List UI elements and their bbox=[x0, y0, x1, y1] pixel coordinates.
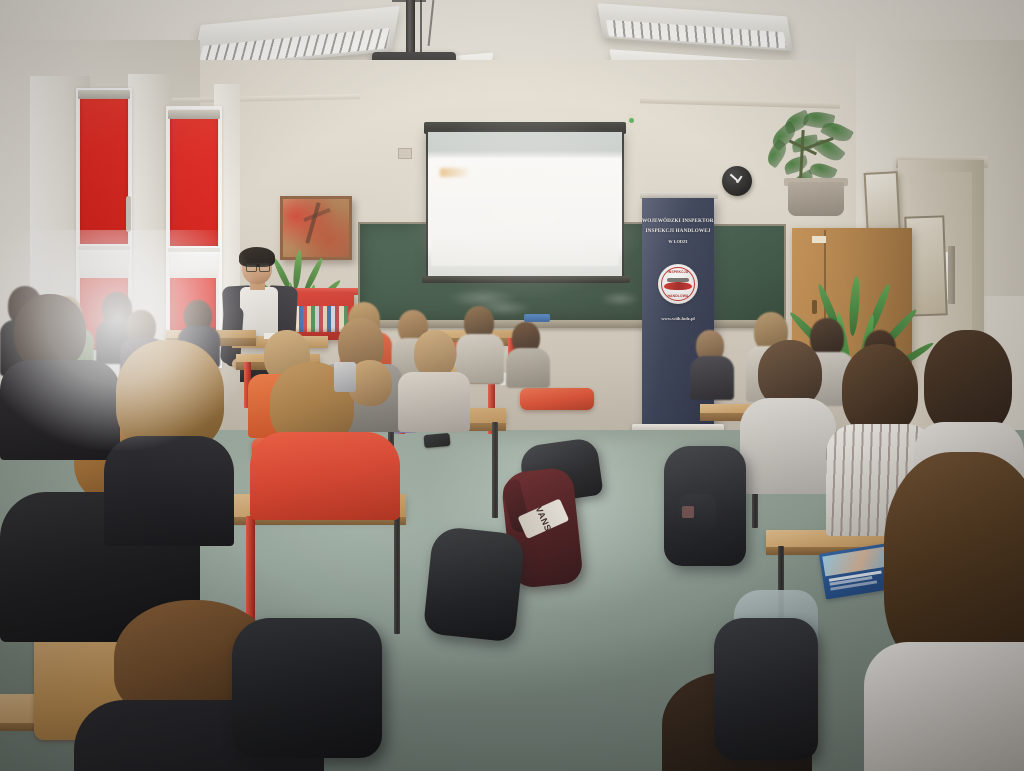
inspection-authority-logo-icon: INSPEKCJA HANDLOWA bbox=[658, 264, 698, 304]
banner-website-url: www.wiih.lodz.pl bbox=[642, 316, 714, 321]
artwork-stroke bbox=[305, 203, 320, 244]
window-handle[interactable] bbox=[126, 196, 131, 232]
student-grey-hoodie bbox=[740, 340, 836, 480]
backpack bbox=[714, 618, 818, 760]
glasses-icon bbox=[246, 263, 270, 269]
logo-ring bbox=[661, 267, 695, 301]
logo-text-bottom: HANDLOWA bbox=[658, 294, 698, 298]
blind-headrail bbox=[168, 110, 220, 119]
logo-bar bbox=[667, 278, 689, 282]
smartphone-on-desk[interactable] bbox=[423, 433, 450, 448]
student-blonde bbox=[104, 340, 234, 520]
banner-line-2: INSPEKCJI HANDLOWEJ bbox=[642, 228, 714, 234]
projector-mount-pole bbox=[406, 0, 415, 58]
backpack bbox=[664, 446, 746, 566]
student bbox=[0, 294, 120, 444]
backpack bbox=[232, 618, 382, 758]
wall-clock bbox=[722, 166, 752, 196]
student-foreground-right bbox=[884, 452, 1024, 771]
blind-headrail bbox=[78, 90, 130, 99]
chalk-smudge bbox=[600, 292, 640, 306]
window-transom bbox=[76, 244, 132, 252]
blue-box-on-ledge bbox=[524, 314, 550, 322]
banner-line-3: W ŁODZI bbox=[642, 239, 714, 244]
projected-slide-mark bbox=[440, 168, 468, 177]
logo-text-top: INSPEKCJA bbox=[658, 270, 698, 274]
wall-sensor-led-icon bbox=[629, 118, 634, 123]
backpack-tag bbox=[682, 506, 693, 518]
student bbox=[690, 330, 734, 392]
red-window-blind[interactable] bbox=[170, 118, 218, 248]
wall-junction-box bbox=[398, 148, 412, 159]
student bbox=[398, 330, 470, 422]
projector-cable bbox=[420, 0, 422, 52]
chair[interactable] bbox=[520, 388, 594, 410]
door-jamb bbox=[948, 246, 955, 304]
logo-swoosh bbox=[664, 282, 691, 291]
student bbox=[506, 322, 550, 380]
desk-leg bbox=[492, 422, 498, 518]
vans-logo-text: VANS bbox=[533, 504, 553, 532]
window-transom bbox=[166, 246, 222, 254]
projection-screen-weight-bar bbox=[422, 276, 630, 283]
cabinet-label bbox=[812, 236, 826, 243]
banner-line-1: WOJEWÓDZKI INSPEKTORAT bbox=[642, 218, 714, 224]
backpack bbox=[423, 525, 526, 642]
clock-center bbox=[736, 180, 739, 183]
student bbox=[330, 352, 402, 418]
red-window-blind[interactable] bbox=[80, 98, 128, 246]
artwork-canvas bbox=[283, 199, 349, 257]
drink-can bbox=[334, 362, 356, 392]
classroom-photo: WOJEWÓDZKI INSPEKTORAT INSPEKCJI HANDLOW… bbox=[0, 0, 1024, 771]
plant-pot bbox=[788, 182, 844, 216]
desk-leg bbox=[394, 516, 400, 634]
